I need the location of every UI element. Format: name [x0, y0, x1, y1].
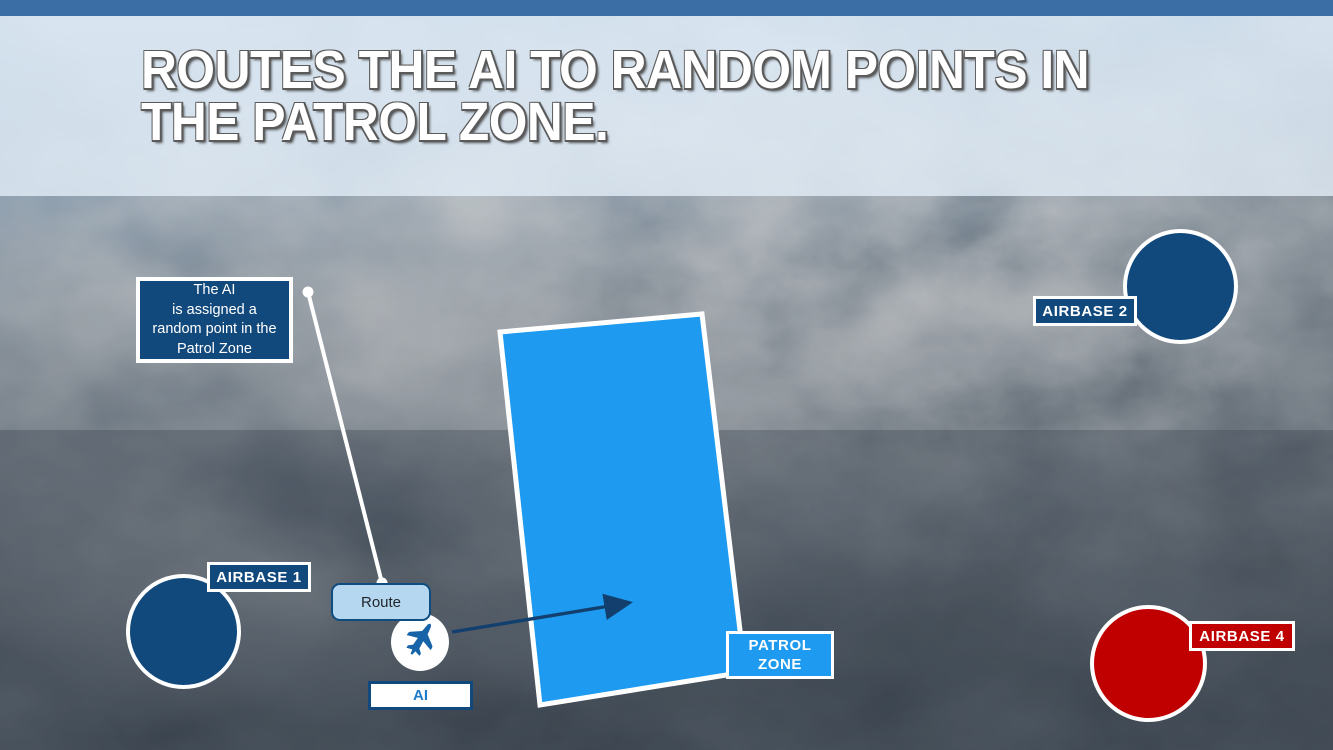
airbase-4-label-text: AIRBASE 4: [1199, 628, 1284, 645]
airbase-2-marker[interactable]: [1123, 229, 1238, 344]
callout-line-1: The AI: [194, 281, 236, 301]
slide-canvas: ROUTES THE AI TO RANDOM POINTS IN THE PA…: [0, 0, 1333, 750]
ai-jet-marker[interactable]: [391, 613, 449, 671]
route-button[interactable]: Route: [331, 583, 431, 621]
airbase-2-label-text: AIRBASE 2: [1042, 303, 1127, 320]
callout-line-2: is assigned a: [172, 301, 257, 321]
airbase-1-label[interactable]: AIRBASE 1: [207, 562, 311, 592]
callout-line-3: random point in the: [152, 320, 276, 340]
ai-assignment-callout: The AI is assigned a random point in the…: [136, 277, 293, 363]
page-title: ROUTES THE AI TO RANDOM POINTS IN THE PA…: [141, 44, 1107, 148]
airbase-4-label[interactable]: AIRBASE 4: [1189, 621, 1295, 651]
patrol-zone-label[interactable]: PATROL ZONE: [726, 631, 834, 679]
ai-label-text: AI: [413, 687, 428, 704]
airbase-1-label-text: AIRBASE 1: [216, 569, 301, 586]
airbase-2-label[interactable]: AIRBASE 2: [1033, 296, 1137, 326]
callout-line-4: Patrol Zone: [177, 340, 252, 360]
patrol-zone-label-line-1: PATROL: [748, 636, 811, 655]
ai-label[interactable]: AI: [368, 681, 473, 710]
route-button-label: Route: [361, 594, 401, 611]
fighter-jet-icon: [397, 619, 443, 665]
patrol-zone-label-line-2: ZONE: [758, 655, 802, 674]
top-accent-strip: [0, 0, 1333, 16]
